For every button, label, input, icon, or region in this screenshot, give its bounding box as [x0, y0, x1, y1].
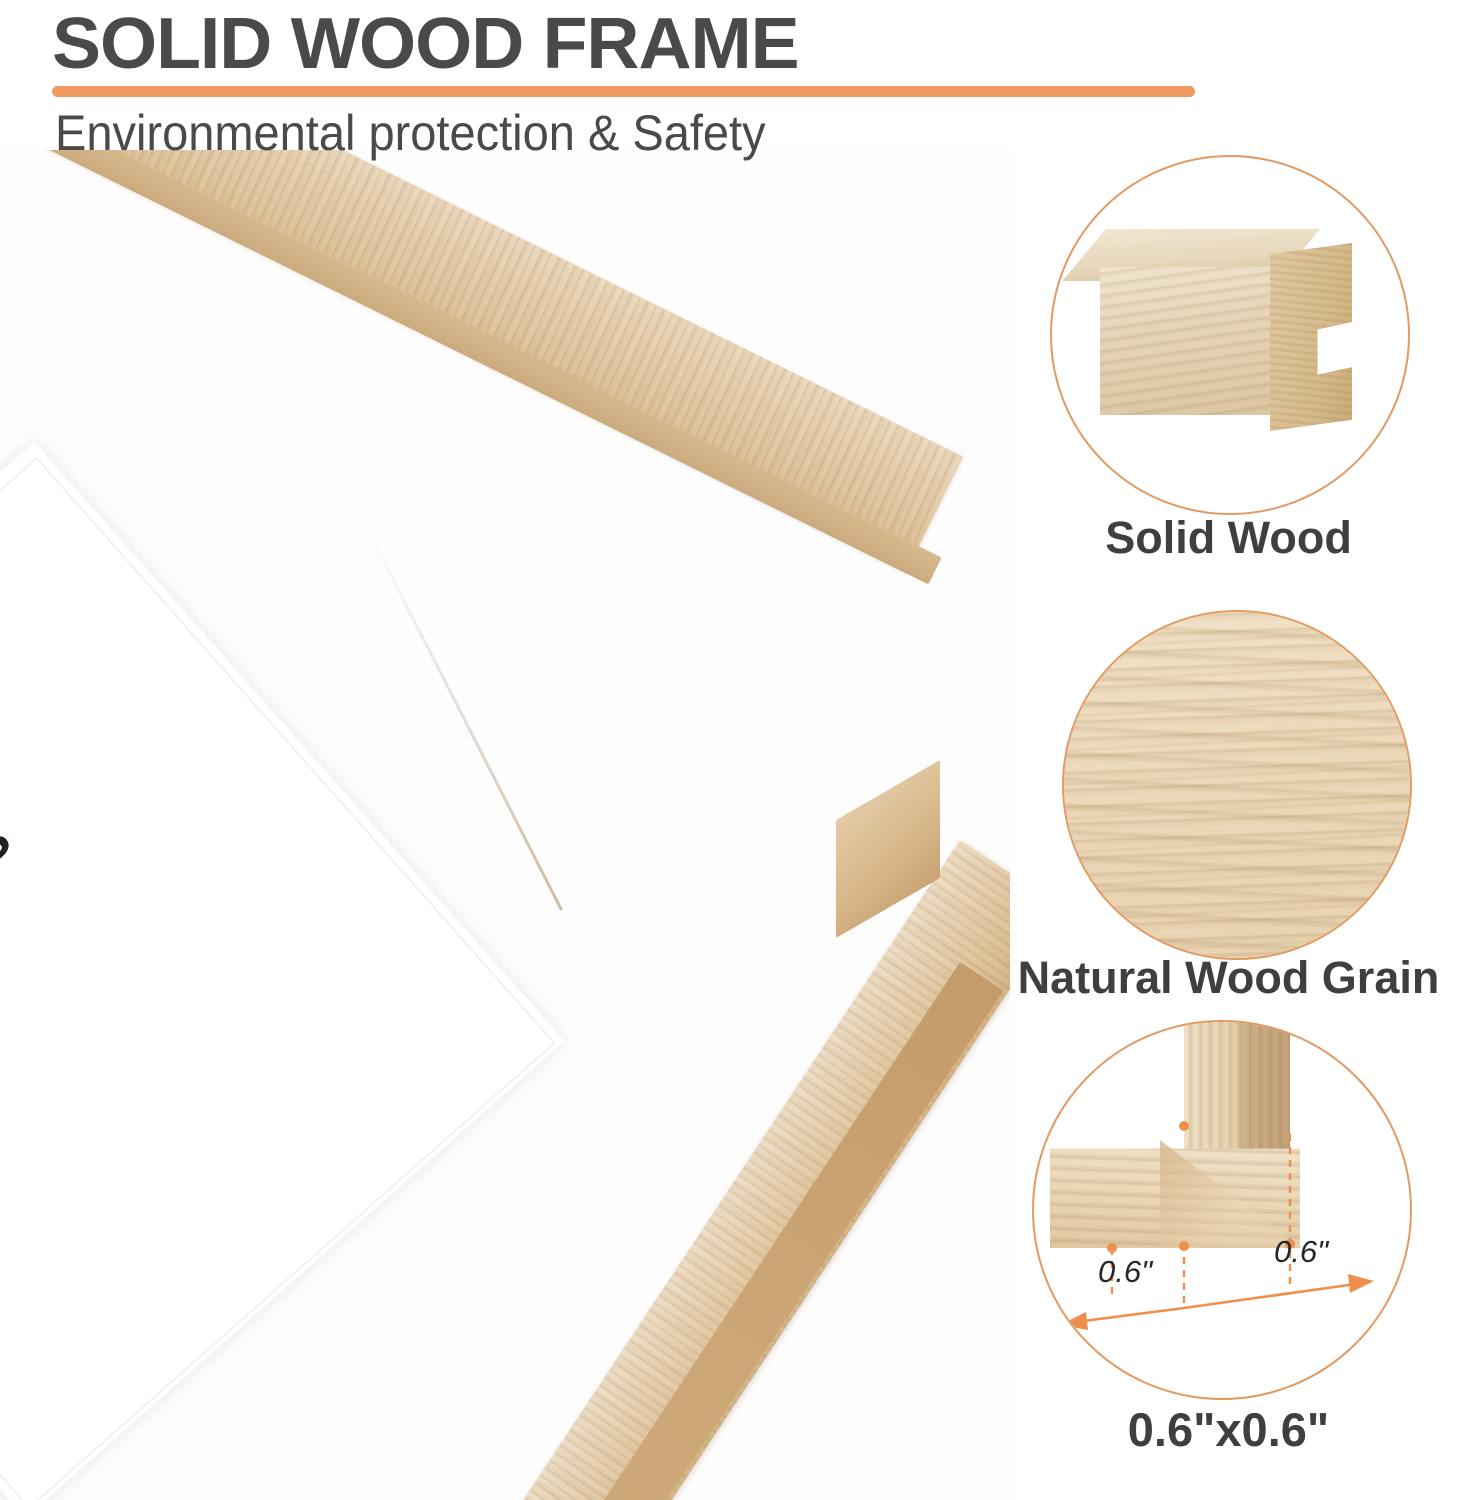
- header-banner: SOLID WOOD FRAME Environmental protectio…: [0, 0, 1467, 175]
- wood-molding-profile-icon: [1100, 229, 1350, 439]
- feature-label-frame-dimensions: 0.6"x0.6": [990, 1402, 1467, 1457]
- page-title: SOLID WOOD FRAME: [52, 2, 1276, 86]
- wood-grain-circle: [1062, 610, 1412, 960]
- title-underline-rule: [52, 86, 1195, 97]
- feature-label-solid-wood: Solid Wood: [990, 512, 1467, 564]
- dimension-label-right: 0.6": [1274, 1234, 1328, 1270]
- feature-callout-column: Solid Wood Natural Wood Grain: [990, 140, 1467, 1500]
- molding-side-surface: [1100, 267, 1272, 415]
- dimension-annotation-svg: [1034, 1022, 1412, 1400]
- molding-rabbet-end-face: [1270, 243, 1352, 431]
- solid-wood-circle: [1050, 155, 1410, 515]
- page-subtitle: Environmental protection & Safety: [55, 104, 1089, 162]
- feature-label-natural-wood-grain: Natural Wood Grain: [990, 952, 1467, 1004]
- frame-dimension-circle: 0.6" 0.6": [1032, 1020, 1412, 1400]
- wood-grain-swatch-icon: [1064, 612, 1410, 958]
- dimension-label-left: 0.6": [1098, 1254, 1152, 1290]
- product-photo-frame-corner: les: [0, 150, 1010, 1500]
